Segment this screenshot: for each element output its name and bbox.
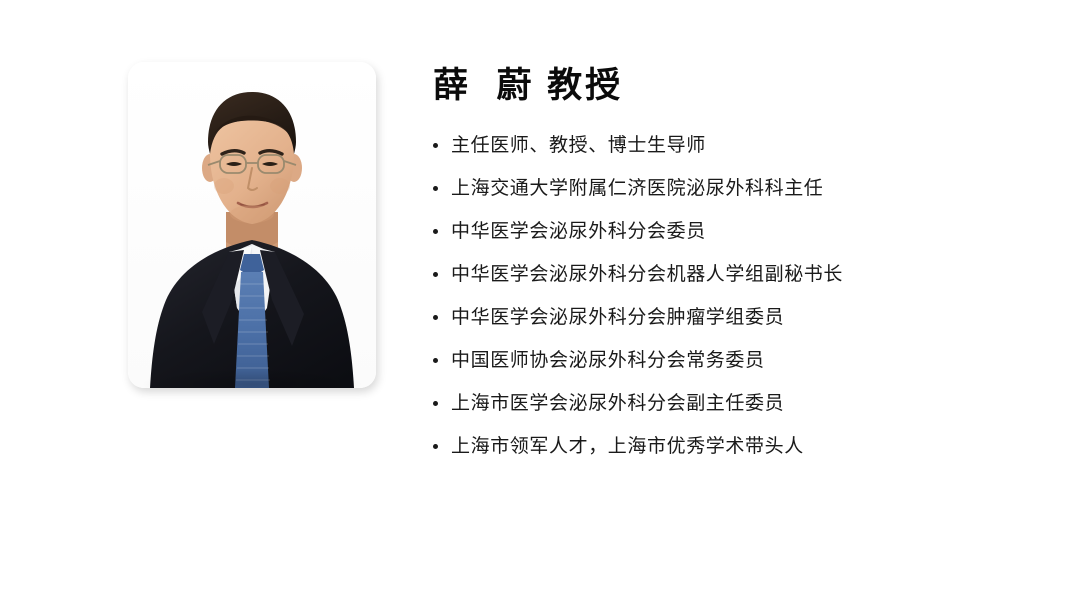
list-item-label: 中华医学会泌尿外科分会机器人学组副秘书长: [451, 264, 843, 285]
slide-root: 薛 蔚 教授 主任医师、教授、博士生导师 上海交通大学附属仁济医院泌尿外科科主任…: [0, 0, 1080, 608]
profile-text-column: 薛 蔚 教授 主任医师、教授、博士生导师 上海交通大学附属仁济医院泌尿外科科主任…: [433, 62, 1033, 468]
page-title: 薛 蔚 教授: [433, 62, 1033, 110]
list-item-label: 上海市领军人才，上海市优秀学术带头人: [451, 436, 804, 457]
credentials-list: 主任医师、教授、博士生导师 上海交通大学附属仁济医院泌尿外科科主任 中华医学会泌…: [433, 124, 1033, 468]
list-item: 中华医学会泌尿外科分会肿瘤学组委员: [433, 296, 1033, 339]
list-item: 主任医师、教授、博士生导师: [433, 124, 1033, 167]
list-item-label: 主任医师、教授、博士生导师: [451, 135, 706, 156]
bullet-dot-icon: [433, 401, 438, 406]
bullet-dot-icon: [433, 315, 438, 320]
bullet-dot-icon: [433, 186, 438, 191]
portrait-photo-card: [128, 62, 376, 388]
list-item-label: 上海市医学会泌尿外科分会副主任委员: [451, 393, 784, 414]
list-item-label: 中华医学会泌尿外科分会委员: [451, 221, 706, 242]
list-item: 上海交通大学附属仁济医院泌尿外科科主任: [433, 167, 1033, 210]
list-item-label: 中国医师协会泌尿外科分会常务委员: [451, 350, 765, 371]
bullet-dot-icon: [433, 143, 438, 148]
bullet-dot-icon: [433, 229, 438, 234]
list-item: 中华医学会泌尿外科分会委员: [433, 210, 1033, 253]
list-item-label: 上海交通大学附属仁济医院泌尿外科科主任: [451, 178, 823, 199]
portrait-illustration: [128, 62, 376, 388]
list-item-label: 中华医学会泌尿外科分会肿瘤学组委员: [451, 307, 784, 328]
list-item: 上海市领军人才，上海市优秀学术带头人: [433, 425, 1033, 468]
bullet-dot-icon: [433, 444, 438, 449]
portrait-photo: [128, 62, 376, 388]
bullet-dot-icon: [433, 358, 438, 363]
bullet-dot-icon: [433, 272, 438, 277]
list-item: 中华医学会泌尿外科分会机器人学组副秘书长: [433, 253, 1033, 296]
list-item: 上海市医学会泌尿外科分会副主任委员: [433, 382, 1033, 425]
list-item: 中国医师协会泌尿外科分会常务委员: [433, 339, 1033, 382]
